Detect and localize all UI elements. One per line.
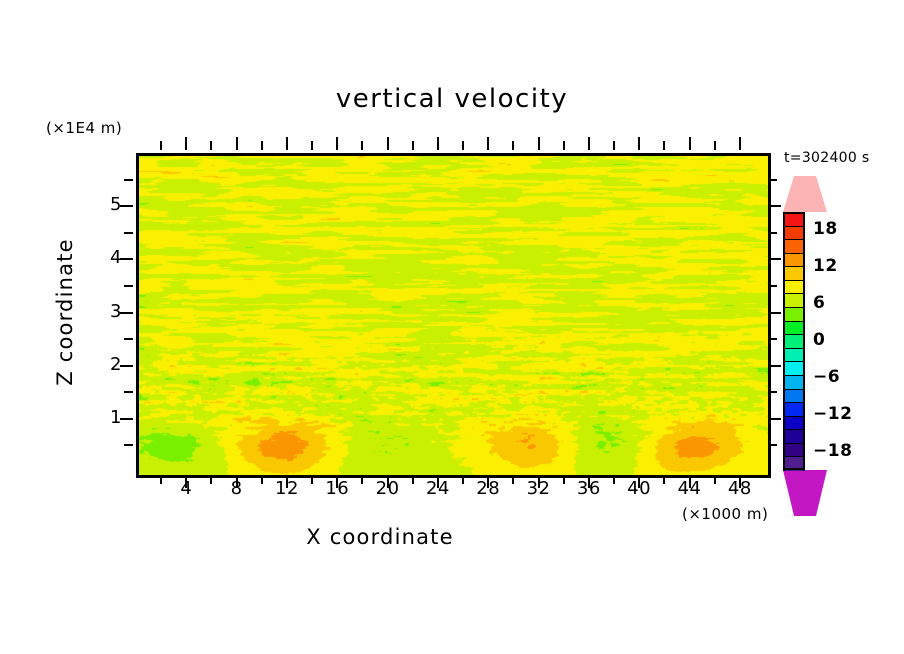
- x-minor-tick: [512, 475, 514, 484]
- x-minor-tick-top: [160, 141, 162, 150]
- y-minor-tick: [124, 338, 133, 340]
- colorbar-band: [783, 307, 805, 321]
- y-axis-title: Z coordinate: [53, 202, 77, 422]
- y-minor-tick-right: [768, 285, 777, 287]
- colorbar-band: [783, 212, 805, 226]
- x-tick-top: [236, 137, 238, 150]
- colorbar-band: [783, 443, 805, 457]
- colorbar-band: [783, 429, 805, 443]
- x-minor-tick-top: [512, 141, 514, 150]
- x-axis-unit-label: (×1000 m): [682, 505, 768, 523]
- y-tick-right: [768, 205, 781, 207]
- y-minor-tick-right: [768, 179, 777, 181]
- x-minor-tick: [412, 475, 414, 484]
- colorbar-over-arrow: [783, 176, 827, 212]
- colorbar-band: [783, 266, 805, 280]
- colorbar-tick-label: 18: [813, 219, 838, 239]
- x-minor-tick: [462, 475, 464, 484]
- contour-plot-area: [136, 153, 771, 478]
- colorbar-band: [783, 293, 805, 307]
- colorbar-band: [783, 321, 805, 335]
- y-tick-right: [768, 365, 781, 367]
- y-minor-tick: [124, 444, 133, 446]
- colorbar: [783, 212, 805, 470]
- x-minor-tick: [613, 475, 615, 484]
- x-tick-top: [185, 137, 187, 150]
- y-tick-right: [768, 418, 781, 420]
- colorbar-band: [783, 389, 805, 403]
- colorbar-bottom-edge: [783, 468, 805, 470]
- y-minor-tick: [124, 285, 133, 287]
- x-minor-tick-top: [563, 141, 565, 150]
- x-minor-tick-top: [361, 141, 363, 150]
- x-minor-tick: [210, 475, 212, 484]
- colorbar-band: [783, 416, 805, 430]
- y-tick-label: 3: [96, 301, 122, 322]
- colorbar-tick-label: 6: [813, 293, 825, 313]
- y-tick-right: [768, 312, 781, 314]
- y-tick-label: 5: [96, 194, 122, 215]
- x-tick-top: [588, 137, 590, 150]
- y-minor-tick-right: [768, 391, 777, 393]
- x-tick-top: [689, 137, 691, 150]
- x-axis-title: X coordinate: [0, 525, 760, 549]
- x-tick-top: [739, 137, 741, 150]
- x-minor-tick: [563, 475, 565, 484]
- x-minor-tick-top: [714, 141, 716, 150]
- figure-canvas: vertical velocity (×1E4 m) (×1000 m) t=3…: [0, 0, 904, 654]
- x-minor-tick-top: [261, 141, 263, 150]
- x-tick-label: 48: [710, 478, 770, 499]
- chart-title: vertical velocity: [0, 84, 904, 114]
- colorbar-band: [783, 239, 805, 253]
- colorbar-tick-label: −18: [813, 441, 852, 461]
- y-tick-label: 2: [96, 354, 122, 375]
- vertical-velocity-field: [139, 156, 768, 475]
- colorbar-band: [783, 253, 805, 267]
- x-minor-tick: [361, 475, 363, 484]
- x-tick-top: [487, 137, 489, 150]
- colorbar-band: [783, 226, 805, 240]
- x-tick-top: [387, 137, 389, 150]
- x-tick-top: [437, 137, 439, 150]
- colorbar-band: [783, 402, 805, 416]
- colorbar-top-edge: [783, 212, 805, 214]
- x-minor-tick-top: [462, 141, 464, 150]
- y-axis-unit-label: (×1E4 m): [46, 119, 122, 137]
- x-minor-tick-top: [311, 141, 313, 150]
- time-annotation: t=302400 s: [784, 150, 869, 166]
- x-minor-tick: [261, 475, 263, 484]
- x-tick-top: [336, 137, 338, 150]
- y-minor-tick-right: [768, 232, 777, 234]
- colorbar-band: [783, 361, 805, 375]
- colorbar-band: [783, 348, 805, 362]
- y-minor-tick: [124, 232, 133, 234]
- y-minor-tick: [124, 391, 133, 393]
- x-tick-top: [286, 137, 288, 150]
- x-minor-tick-top: [613, 141, 615, 150]
- x-minor-tick: [160, 475, 162, 484]
- y-tick-label: 4: [96, 247, 122, 268]
- x-minor-tick: [714, 475, 716, 484]
- y-minor-tick-right: [768, 444, 777, 446]
- colorbar-band: [783, 375, 805, 389]
- x-tick-top: [538, 137, 540, 150]
- x-minor-tick-top: [210, 141, 212, 150]
- x-minor-tick: [311, 475, 313, 484]
- colorbar-tick-label: −6: [813, 367, 840, 387]
- colorbar-band: [783, 334, 805, 348]
- y-minor-tick-right: [768, 338, 777, 340]
- x-minor-tick-top: [663, 141, 665, 150]
- x-tick-top: [638, 137, 640, 150]
- colorbar-tick-label: 0: [813, 330, 825, 350]
- y-minor-tick: [124, 179, 133, 181]
- x-minor-tick: [663, 475, 665, 484]
- colorbar-tick-label: 12: [813, 256, 838, 276]
- y-tick-right: [768, 258, 781, 260]
- colorbar-band: [783, 280, 805, 294]
- y-tick-label: 1: [96, 407, 122, 428]
- colorbar-under-arrow: [783, 470, 827, 516]
- colorbar-tick-label: −12: [813, 404, 852, 424]
- x-minor-tick-top: [412, 141, 414, 150]
